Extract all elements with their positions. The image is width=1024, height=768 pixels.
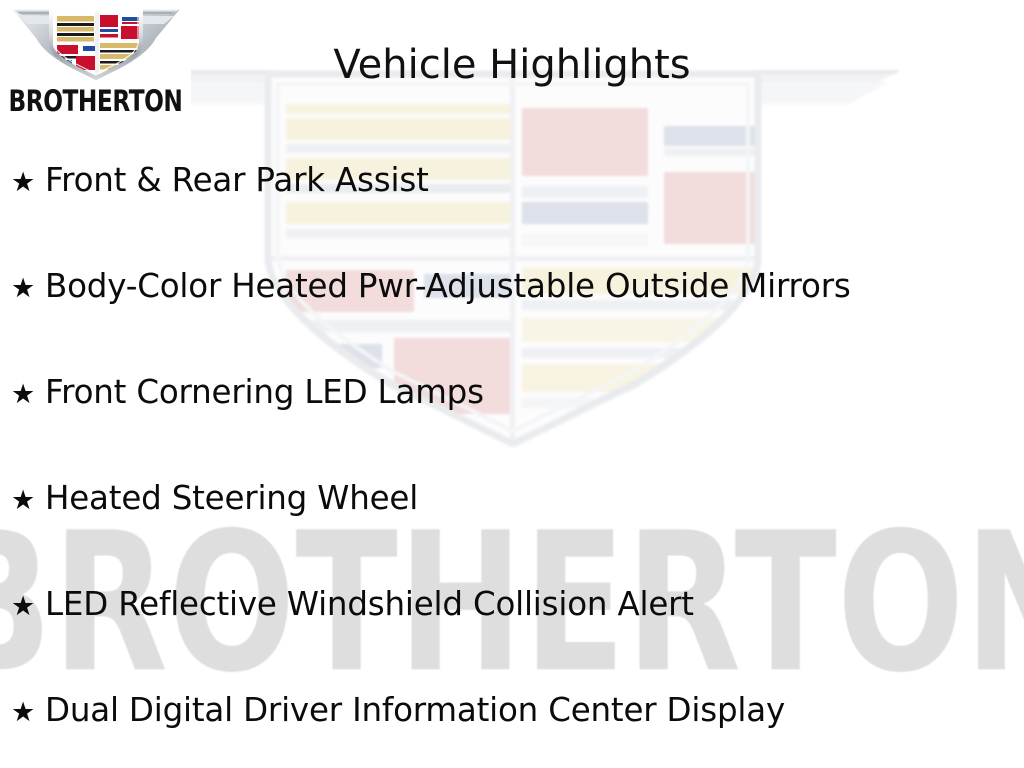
list-item: ★ Body-Color Heated Pwr-Adjustable Outsi… (11, 266, 1016, 372)
list-item: ★ Dual Digital Driver Information Center… (11, 690, 1016, 768)
star-bullet-icon: ★ (11, 381, 45, 408)
star-bullet-icon: ★ (11, 593, 45, 620)
list-item: ★ Front Cornering LED Lamps (11, 372, 1016, 478)
list-item: ★ LED Reflective Windshield Collision Al… (11, 584, 1016, 690)
slide-canvas: BROTHERTON (0, 0, 1024, 768)
vehicle-highlights-list: ★ Front & Rear Park Assist ★ Body-Color … (11, 160, 1016, 768)
page-title: Vehicle Highlights (0, 42, 1024, 88)
list-item: ★ Heated Steering Wheel (11, 478, 1016, 584)
highlight-label: Heated Steering Wheel (45, 478, 418, 517)
dealer-wordmark: BROTHERTON (9, 86, 183, 116)
star-bullet-icon: ★ (11, 275, 45, 302)
list-item: ★ Front & Rear Park Assist (11, 160, 1016, 266)
highlight-label: Dual Digital Driver Information Center D… (45, 690, 785, 729)
star-bullet-icon: ★ (11, 169, 45, 196)
highlight-label: Body-Color Heated Pwr-Adjustable Outside… (45, 266, 851, 305)
highlight-label: Front Cornering LED Lamps (45, 372, 484, 411)
content-layer: BROTHERTON Vehicle Highlights ★ Front & … (0, 0, 1024, 768)
highlight-label: LED Reflective Windshield Collision Aler… (45, 584, 694, 623)
highlight-label: Front & Rear Park Assist (45, 160, 429, 199)
star-bullet-icon: ★ (11, 487, 45, 514)
star-bullet-icon: ★ (11, 699, 45, 726)
